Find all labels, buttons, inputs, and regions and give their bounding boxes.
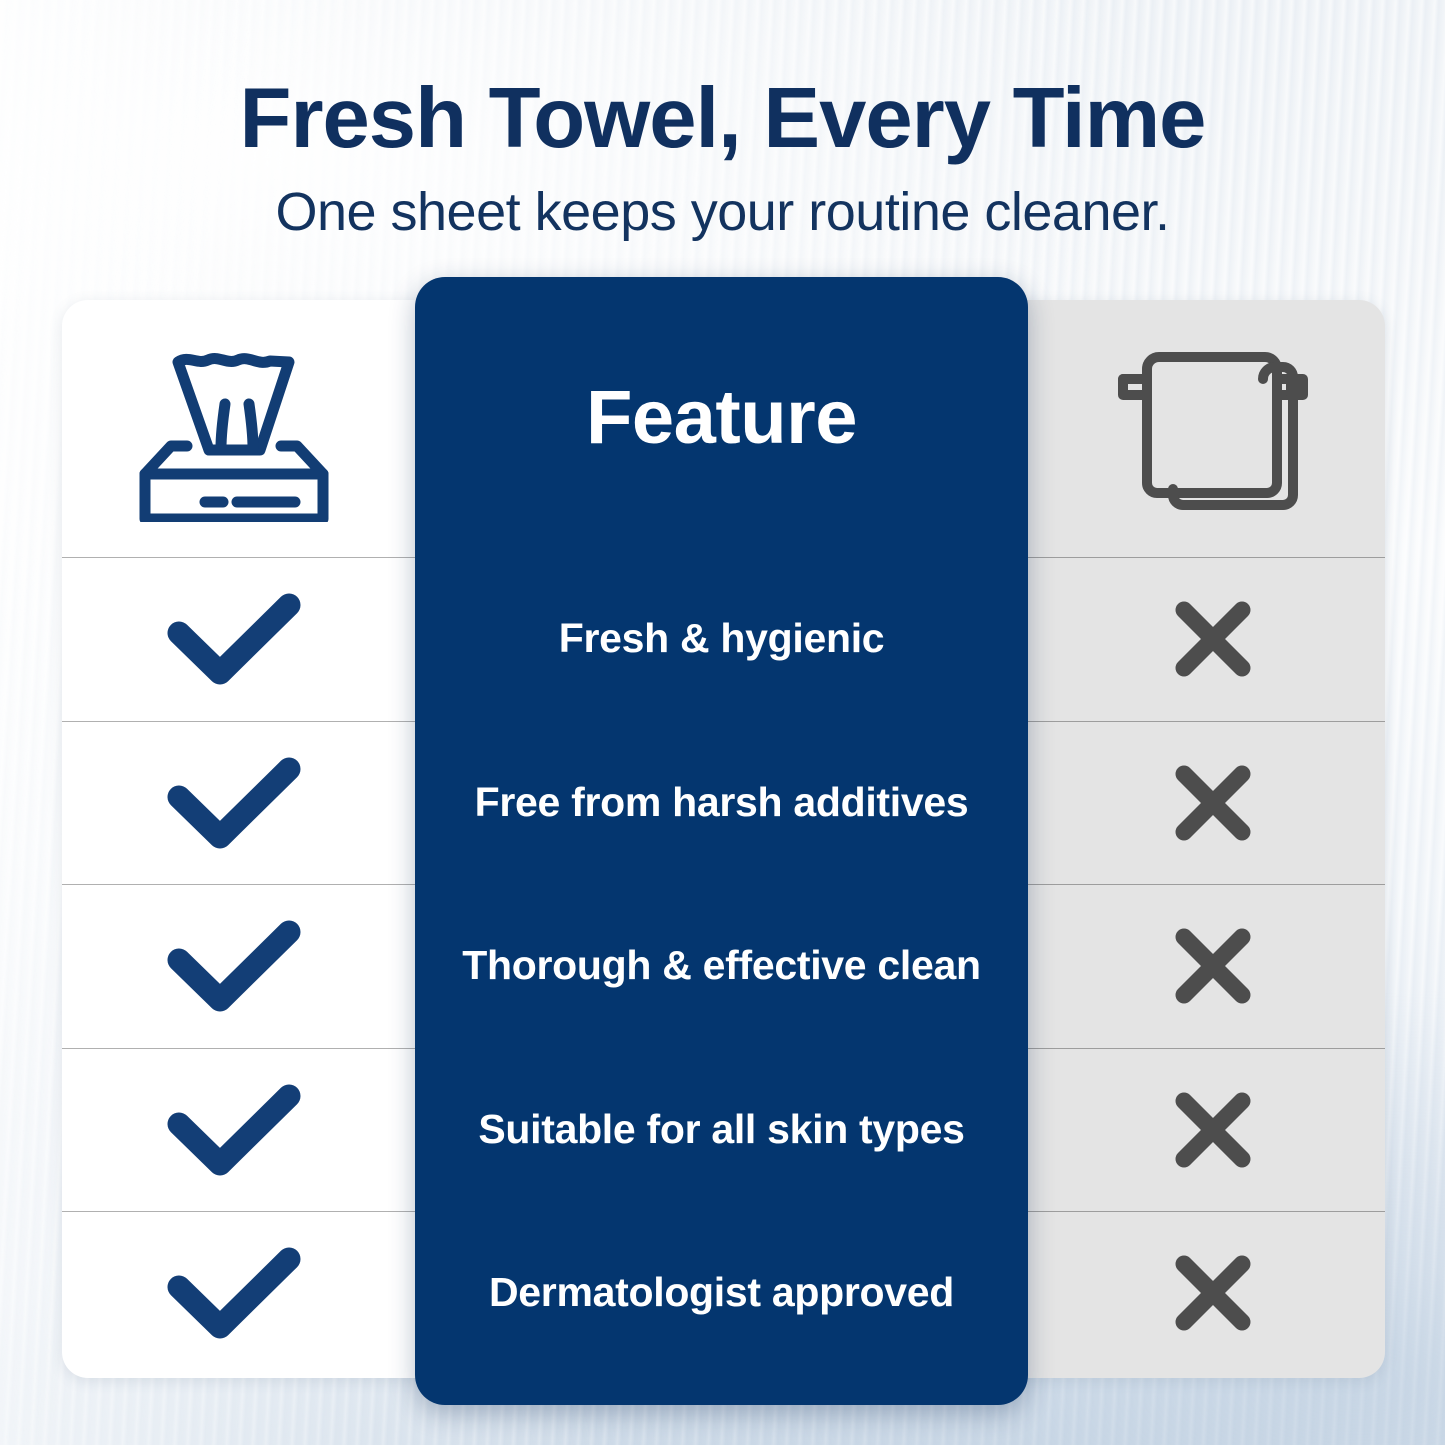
- feature-row: Suitable for all skin types: [415, 1048, 1028, 1212]
- right-column-card: [985, 300, 1385, 1378]
- left-mark-cell: [62, 721, 462, 885]
- check-icon: [167, 1245, 301, 1341]
- feature-row: Free from harsh additives: [415, 721, 1028, 885]
- cross-icon: [1170, 760, 1256, 846]
- left-column-card: [62, 300, 462, 1378]
- cross-icon: [1170, 923, 1256, 1009]
- left-mark-cell: [62, 884, 462, 1048]
- right-mark-cell: [985, 557, 1385, 721]
- feature-row: Dermatologist approved: [415, 1211, 1028, 1375]
- feature-label: Fresh & hygienic: [559, 616, 885, 661]
- left-mark-cell: [62, 1211, 462, 1375]
- check-icon: [167, 755, 301, 851]
- feature-label: Thorough & effective clean: [462, 943, 980, 988]
- right-mark-cell: [985, 721, 1385, 885]
- right-mark-cell: [985, 884, 1385, 1048]
- tissue-box-icon: [131, 336, 337, 522]
- left-mark-cell: [62, 557, 462, 721]
- feature-label: Free from harsh additives: [475, 780, 969, 825]
- check-icon: [167, 591, 301, 687]
- left-mark-cell: [62, 1048, 462, 1212]
- feature-label: Dermatologist approved: [489, 1270, 954, 1315]
- feature-label: Suitable for all skin types: [478, 1107, 964, 1152]
- feature-column-header: Feature: [415, 277, 1028, 557]
- right-mark-cell: [985, 1048, 1385, 1212]
- hanging-towel-icon: [1113, 343, 1313, 515]
- comparison-table: Feature Fresh & hygienic Free from harsh…: [0, 0, 1445, 1445]
- check-icon: [167, 1082, 301, 1178]
- feature-column-panel: Feature Fresh & hygienic Free from harsh…: [415, 277, 1028, 1405]
- feature-row: Thorough & effective clean: [415, 884, 1028, 1048]
- cross-icon: [1170, 1250, 1256, 1336]
- feature-row: Fresh & hygienic: [415, 557, 1028, 721]
- left-column-header-cell: [62, 300, 462, 557]
- feature-column-header-label: Feature: [586, 374, 857, 461]
- right-column-header-cell: [985, 300, 1385, 557]
- check-icon: [167, 918, 301, 1014]
- cross-icon: [1170, 1087, 1256, 1173]
- right-mark-cell: [985, 1211, 1385, 1375]
- cross-icon: [1170, 596, 1256, 682]
